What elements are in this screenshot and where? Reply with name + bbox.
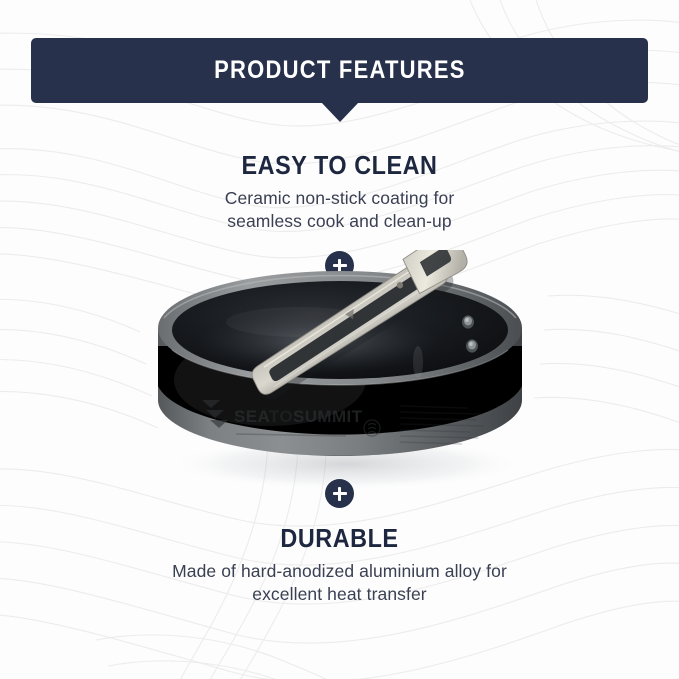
svg-text:SEATOSUMMIT: SEATOSUMMIT [234,407,363,426]
feature-block-easy-to-clean: EASY TO CLEAN Ceramic non-stick coating … [0,150,679,233]
feature-description: Ceramic non-stick coating for seamless c… [0,187,679,233]
plus-icon-vertical-bar [338,487,341,501]
plus-icon-durable[interactable] [325,479,354,508]
product-features-banner: PRODUCT FEATURES [31,38,648,103]
feature-description-line: Made of hard-anodized aluminium alloy fo… [0,560,679,583]
product-image-frying-pan: SEATOSUMMIT [150,250,530,490]
feature-block-durable: DURABLE Made of hard-anodized aluminium … [0,523,679,606]
banner-pointer-notch [321,102,359,122]
feature-description-line: Ceramic non-stick coating for [0,187,679,210]
feature-description: Made of hard-anodized aluminium alloy fo… [0,560,679,606]
feature-title: EASY TO CLEAN [34,150,645,181]
infographic-canvas: PRODUCT FEATURES EASY TO CLEAN Ceramic n… [0,0,679,679]
feature-title: DURABLE [34,523,645,554]
feature-description-line: excellent heat transfer [0,583,679,606]
feature-description-line: seamless cook and clean-up [0,210,679,233]
banner-title: PRODUCT FEATURES [214,56,466,85]
